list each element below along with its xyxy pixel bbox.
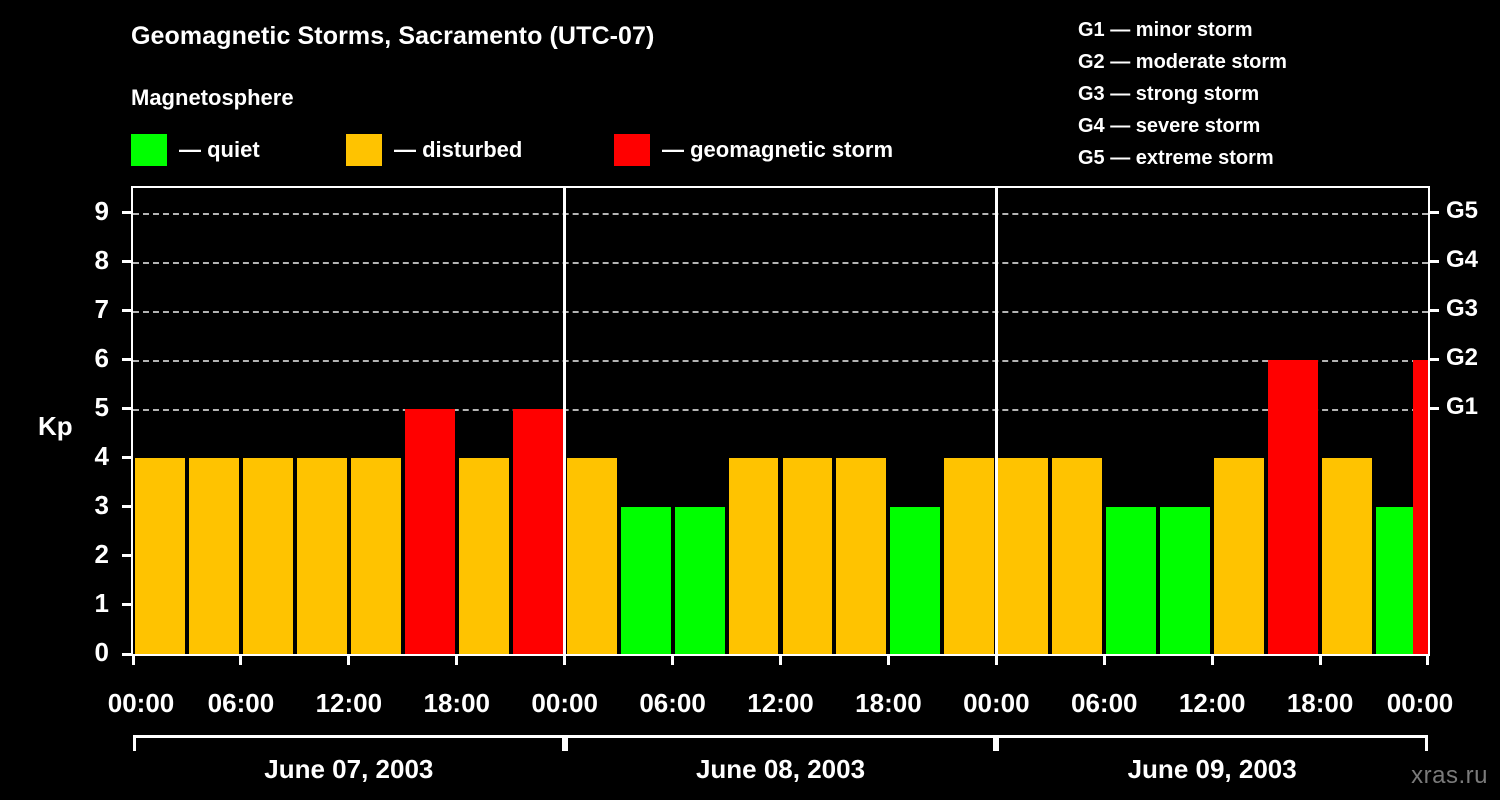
bar — [1268, 360, 1318, 654]
x-axis-label: 18:00 — [1287, 688, 1354, 719]
day-divider — [563, 188, 566, 654]
bar — [1322, 458, 1372, 654]
x-axis-tick — [1426, 654, 1429, 665]
x-axis-label: 00:00 — [1387, 688, 1454, 719]
bar — [513, 409, 563, 654]
bar — [944, 458, 994, 654]
g-axis-tick — [1428, 211, 1439, 214]
g-legend-row: G5 — extreme storm — [1078, 142, 1287, 174]
x-axis-tick — [455, 654, 458, 665]
gridline — [133, 213, 1428, 215]
y-axis-tick — [122, 505, 133, 508]
y-axis-tick — [122, 456, 133, 459]
x-axis-tick — [1319, 654, 1322, 665]
y-axis-label: 9 — [79, 196, 109, 227]
y-axis-tick — [122, 260, 133, 263]
bar — [405, 409, 455, 654]
y-axis-tick — [122, 211, 133, 214]
storm-swatch — [614, 134, 650, 166]
y-axis-label: 6 — [79, 343, 109, 374]
g-axis-tick — [1428, 260, 1439, 263]
bar — [567, 458, 617, 654]
bar — [890, 507, 940, 654]
x-axis-tick — [887, 654, 890, 665]
y-axis-tick — [122, 554, 133, 557]
g-axis-tick — [1428, 358, 1439, 361]
g-axis-tick — [1428, 407, 1439, 410]
x-axis-label: 12:00 — [747, 688, 814, 719]
g-axis-label: G4 — [1446, 246, 1478, 274]
g-legend-row: G1 — minor storm — [1078, 14, 1287, 46]
x-axis-tick — [347, 654, 350, 665]
bar — [1106, 507, 1156, 654]
plot-area — [133, 188, 1428, 654]
y-axis-title: Kp — [38, 411, 73, 442]
y-axis-tick — [122, 309, 133, 312]
y-axis-label: 7 — [79, 294, 109, 325]
g-legend-row: G3 — strong storm — [1078, 78, 1287, 110]
bar — [1214, 458, 1264, 654]
g-axis-label: G2 — [1446, 344, 1478, 372]
bar — [836, 458, 886, 654]
legend-entry: — geomagnetic storm — [614, 133, 893, 167]
legend-label: — quiet — [179, 137, 260, 163]
day-bracket — [133, 735, 565, 751]
bar — [675, 507, 725, 654]
bar — [729, 458, 779, 654]
gridline — [133, 409, 1428, 411]
x-axis-tick — [1103, 654, 1106, 665]
x-axis-label: 18:00 — [424, 688, 491, 719]
gridline — [133, 262, 1428, 264]
y-axis-label: 5 — [79, 392, 109, 423]
x-axis-label: 12:00 — [316, 688, 383, 719]
bar — [998, 458, 1048, 654]
day-bracket — [996, 735, 1428, 751]
disturbed-swatch — [346, 134, 382, 166]
y-axis-tick — [122, 358, 133, 361]
y-axis-tick — [122, 603, 133, 606]
quiet-swatch — [131, 134, 167, 166]
bar — [297, 458, 347, 654]
y-axis-tick — [122, 407, 133, 410]
day-divider — [995, 188, 998, 654]
gridline — [133, 311, 1428, 313]
bar — [243, 458, 293, 654]
x-axis-tick — [132, 654, 135, 665]
x-axis-label: 00:00 — [108, 688, 175, 719]
day-label: June 09, 2003 — [1128, 754, 1297, 785]
watermark: xras.ru — [1411, 762, 1488, 790]
x-axis-label: 06:00 — [1071, 688, 1138, 719]
x-axis-label: 12:00 — [1179, 688, 1246, 719]
bar — [1160, 507, 1210, 654]
x-axis-label: 06:00 — [208, 688, 275, 719]
y-axis-label: 8 — [79, 245, 109, 276]
day-label: June 07, 2003 — [264, 754, 433, 785]
x-axis-tick — [779, 654, 782, 665]
page-title: Geomagnetic Storms, Sacramento (UTC-07) — [131, 22, 654, 51]
x-axis-label: 06:00 — [639, 688, 706, 719]
bar — [1052, 458, 1102, 654]
x-axis-tick — [239, 654, 242, 665]
legend-label: — disturbed — [394, 137, 522, 163]
day-label: June 08, 2003 — [696, 754, 865, 785]
g-legend-row: G2 — moderate storm — [1078, 46, 1287, 78]
g-scale-legend: G1 — minor stormG2 — moderate stormG3 — … — [1078, 14, 1287, 174]
bar — [459, 458, 509, 654]
x-axis-tick — [1211, 654, 1214, 665]
x-axis-label: 00:00 — [531, 688, 598, 719]
bar — [189, 458, 239, 654]
y-axis-label: 0 — [79, 637, 109, 668]
x-axis-tick — [563, 654, 566, 665]
bar — [351, 458, 401, 654]
g-axis-tick — [1428, 309, 1439, 312]
bar — [783, 458, 833, 654]
legend-entry: — disturbed — [346, 133, 522, 167]
x-axis-tick — [671, 654, 674, 665]
g-axis-label: G1 — [1446, 393, 1478, 421]
legend-entry: — quiet — [131, 133, 260, 167]
gridline — [133, 360, 1428, 362]
plot-frame — [131, 186, 1430, 656]
y-axis-label: 3 — [79, 490, 109, 521]
x-axis-label: 18:00 — [855, 688, 922, 719]
x-axis-label: 00:00 — [963, 688, 1030, 719]
x-axis-tick — [995, 654, 998, 665]
bar — [1413, 360, 1428, 654]
g-legend-row: G4 — severe storm — [1078, 110, 1287, 142]
legend-label: — geomagnetic storm — [662, 137, 893, 163]
day-bracket — [565, 735, 997, 751]
bar — [621, 507, 671, 654]
g-axis-label: G5 — [1446, 197, 1478, 225]
y-axis-label: 2 — [79, 539, 109, 570]
g-axis-label: G3 — [1446, 295, 1478, 323]
y-axis-label: 1 — [79, 588, 109, 619]
magnetosphere-label: Magnetosphere — [131, 85, 294, 111]
bar — [135, 458, 185, 654]
y-axis-label: 4 — [79, 441, 109, 472]
